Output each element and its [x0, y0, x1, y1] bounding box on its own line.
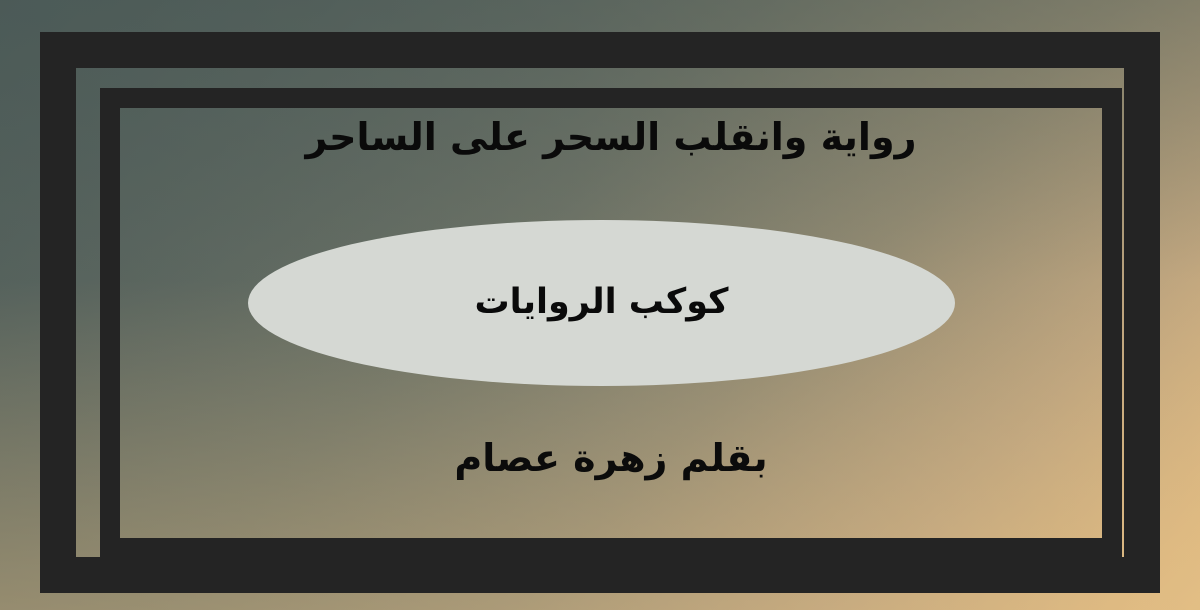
page-title: رواية وانقلب السحر على الساحر [120, 114, 1102, 162]
author-credit: بقلم زهرة عصام [120, 436, 1102, 480]
novel-cover-card: رواية وانقلب السحر على الساحر كوكب الروا… [0, 0, 1200, 610]
card-content-area: رواية وانقلب السحر على الساحر كوكب الروا… [120, 108, 1102, 538]
brand-badge-ellipse: كوكب الروايات [248, 220, 955, 386]
brand-badge-label: كوكب الروايات [475, 282, 729, 322]
